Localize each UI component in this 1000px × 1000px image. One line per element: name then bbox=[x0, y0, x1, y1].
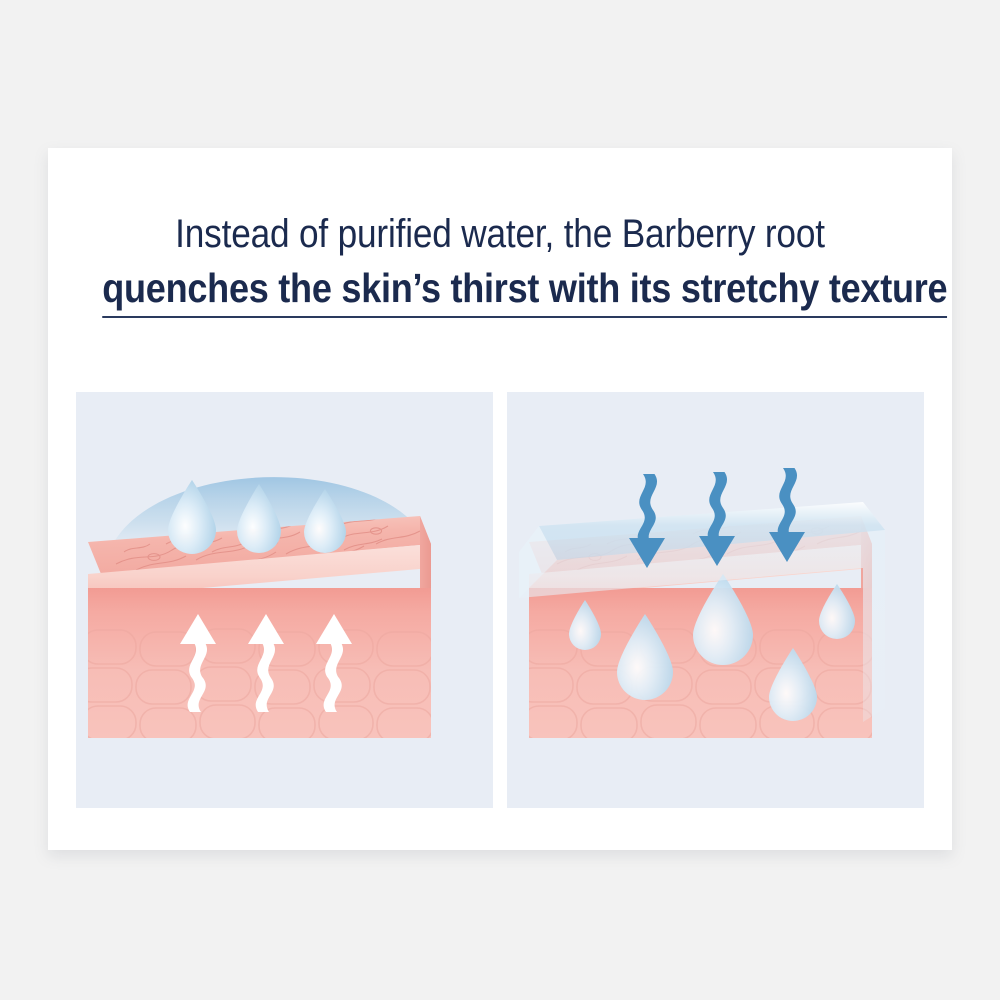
panel-barberry-root bbox=[507, 392, 924, 808]
headline-line-1: Instead of purified water, the Barberry … bbox=[102, 210, 898, 259]
headline-line-2: quenches the skin’s thirst with its stre… bbox=[102, 263, 947, 318]
illustration-panels bbox=[76, 392, 924, 808]
headline: Instead of purified water, the Barberry … bbox=[48, 210, 952, 318]
infographic-canvas: Instead of purified water, the Barberry … bbox=[0, 0, 1000, 1000]
headline-line-2-wrapper: quenches the skin’s thirst with its stre… bbox=[102, 263, 898, 318]
panel-purified-water bbox=[76, 392, 493, 808]
content-card: Instead of purified water, the Barberry … bbox=[48, 148, 952, 850]
